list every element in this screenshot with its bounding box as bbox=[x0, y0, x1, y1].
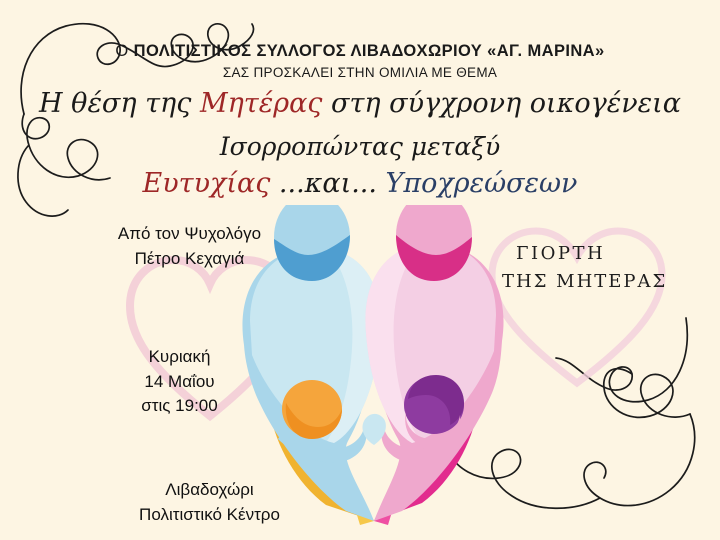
theme-line1-part2: στη σύγχρονη οικογένεια bbox=[322, 88, 681, 119]
organizer-name: ΠΟΛΙΤΙΣΤΙΚΟΣ ΣΥΛΛΟΓΟΣ ΛΙΒΑΔΟΧΩΡΙΟΥ «ΑΓ. … bbox=[134, 42, 605, 60]
speaker-name: Πέτρο Κεχαγιά bbox=[82, 247, 297, 272]
venue-locality: Λιβαδοχώρι bbox=[92, 478, 327, 503]
venue-name: Πολιτιστικό Κέντρο bbox=[92, 503, 327, 528]
event-time: στις 19:00 bbox=[82, 394, 277, 419]
occasion-block: ΓΙΟΡΤΗ ΤΗΣ ΜΗΤΕΡΑΣ bbox=[516, 240, 706, 296]
invitation-line: ΣΑΣ ΠΡΟΣΚΑΛΕΙ ΣΤΗΝ ΟΜΙΛΙΑ ΜΕ ΘΕΜΑ bbox=[223, 65, 497, 80]
theme-happiness-word: Ευτυχίας bbox=[143, 168, 271, 199]
venue-block: Λιβαδοχώρι Πολιτιστικό Κέντρο bbox=[92, 478, 327, 527]
theme-duties-word: Υποχρεώσεων bbox=[386, 168, 578, 199]
theme-line-3: Ευτυχίας ...και... Υποχρεώσεων bbox=[143, 168, 578, 199]
theme-connector: ...και... bbox=[270, 168, 385, 199]
theme-line-2: Ισορροπώντας μεταξύ bbox=[220, 132, 500, 161]
event-day-month: 14 Μαΐου bbox=[82, 370, 277, 395]
theme-line1-part1: Η θέση της bbox=[39, 88, 200, 119]
theme-line1-highlight: Μητέρας bbox=[200, 88, 322, 119]
event-weekday: Κυριακή bbox=[82, 345, 277, 370]
speaker-role: Από τον Ψυχολόγο bbox=[82, 222, 297, 247]
occasion-line-1: ΓΙΟΡΤΗ bbox=[516, 240, 706, 268]
poster-canvas: Ο ΠΟΛΙΤΙΣΤΙΚΟΣ ΣΥΛΛΟΓΟΣ ΛΙΒΑΔΟΧΩΡΙΟΥ «ΑΓ… bbox=[0, 0, 720, 540]
organizer-line: Ο ΠΟΛΙΤΙΣΤΙΚΟΣ ΣΥΛΛΟΓΟΣ ΛΙΒΑΔΟΧΩΡΙΟΥ «ΑΓ… bbox=[115, 42, 604, 61]
date-block: Κυριακή 14 Μαΐου στις 19:00 bbox=[82, 345, 277, 419]
occasion-line-2: ΤΗΣ ΜΗΤΕΡΑΣ bbox=[502, 268, 706, 296]
theme-line-1: Η θέση της Μητέρας στη σύγχρονη οικογένε… bbox=[39, 88, 681, 119]
organizer-article: Ο bbox=[115, 42, 128, 60]
speaker-block: Από τον Ψυχολόγο Πέτρο Κεχαγιά bbox=[82, 222, 297, 271]
